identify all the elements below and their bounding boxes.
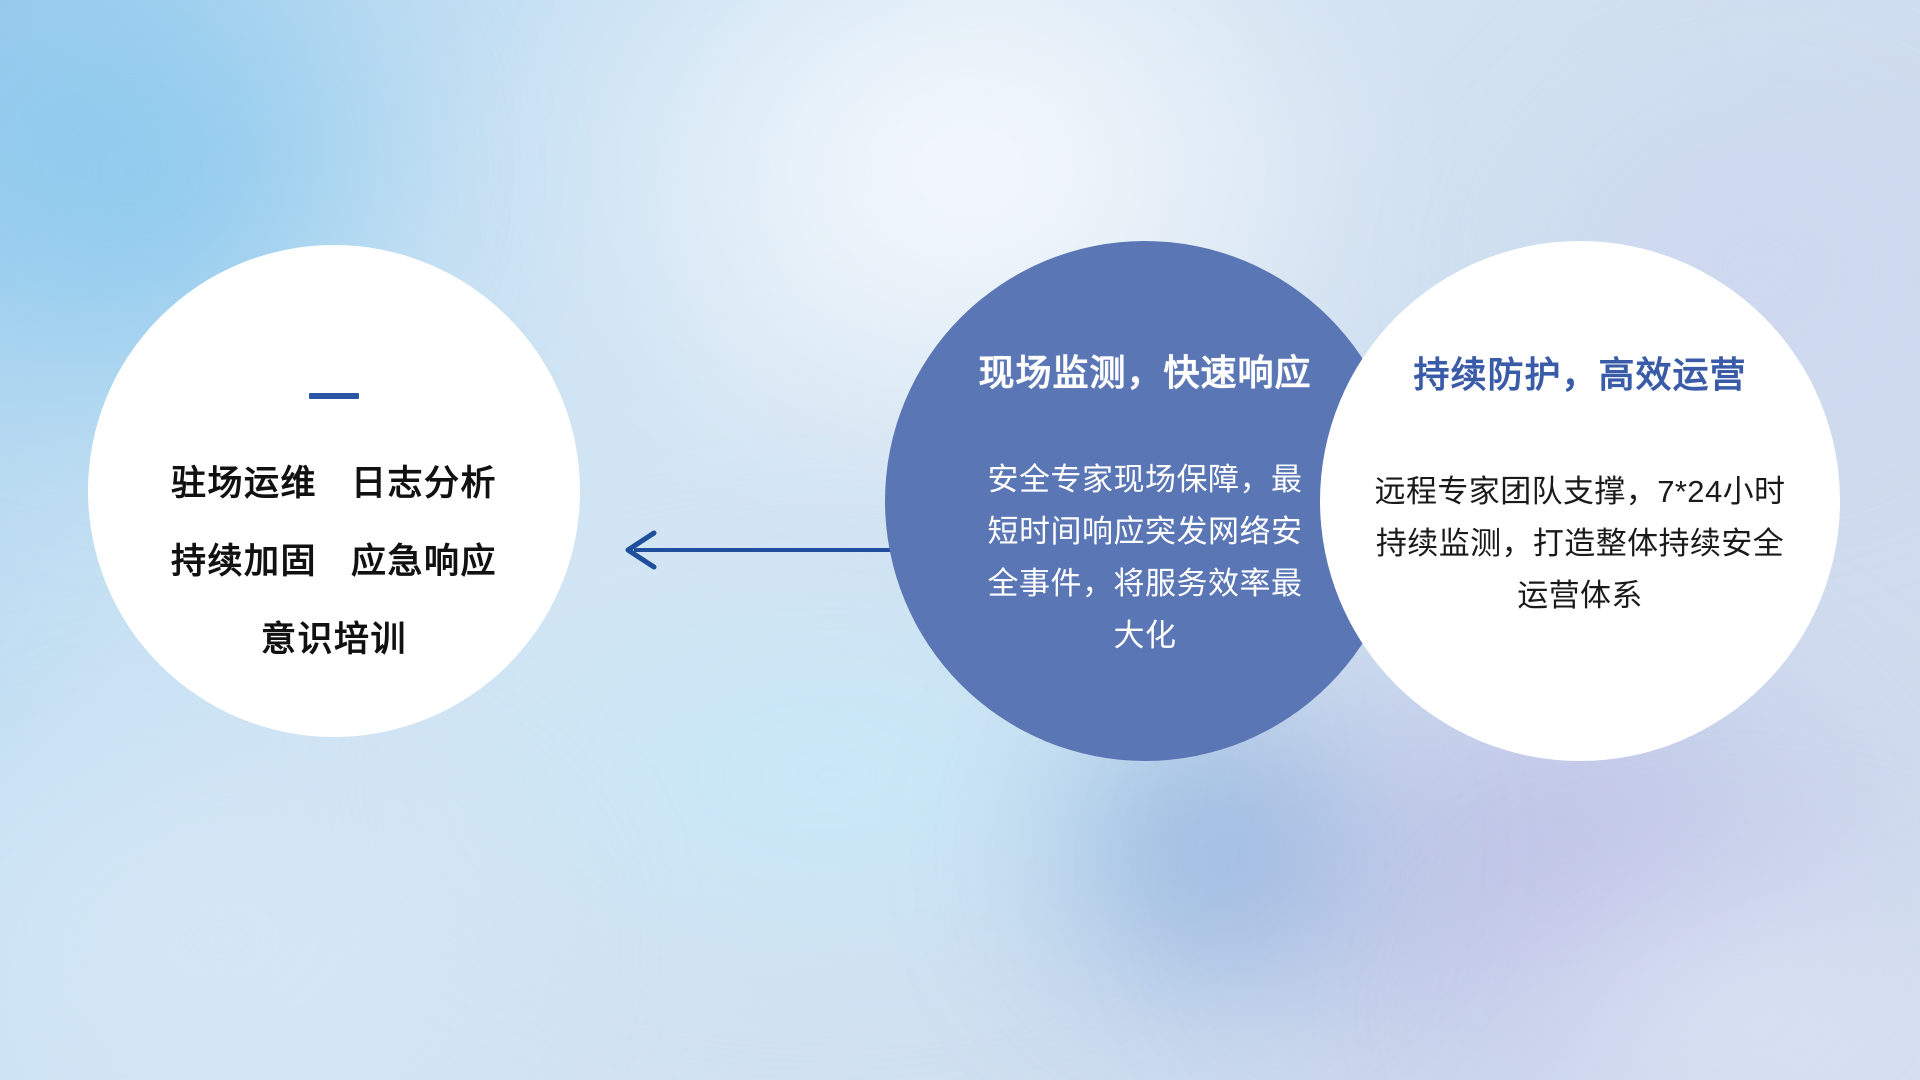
right-circle-title: 持续防护，高效运营 [1413, 346, 1746, 398]
keyword-row: 驻场运维 日志分析 [171, 445, 497, 523]
keyword-list: 驻场运维 日志分析 持续加固 应急响应 意识培训 [171, 445, 497, 679]
mid-circle-title: 现场监测，快速响应 [978, 344, 1311, 396]
keyword-item: 日志分析 [351, 445, 497, 523]
connector-arrow [600, 515, 900, 585]
keyword-row: 持续加固 应急响应 [171, 523, 497, 601]
arrow-left-icon [600, 515, 900, 585]
horizontal-dash-icon [309, 393, 359, 399]
keyword-item: 驻场运维 [171, 445, 317, 523]
keyword-row: 意识培训 [261, 601, 407, 679]
mid-circle-body: 安全专家现场保障，最短时间响应突发网络安全事件，将服务效率最大化 [972, 454, 1318, 662]
right-circle-body: 远程专家团队支撑，7*24小时持续监测，打造整体持续安全运营体系 [1361, 466, 1799, 622]
left-circle-content: 驻场运维 日志分析 持续加固 应急响应 意识培训 [88, 245, 580, 737]
keyword-item: 应急响应 [351, 523, 497, 601]
right-circle-content: 持续防护，高效运营 远程专家团队支撑，7*24小时持续监测，打造整体持续安全运营… [1320, 241, 1840, 761]
keyword-item: 意识培训 [261, 601, 407, 679]
slide-canvas: 驻场运维 日志分析 持续加固 应急响应 意识培训 现场监测，快速响应 安全专家现… [0, 0, 1920, 1080]
keyword-item: 持续加固 [171, 523, 317, 601]
